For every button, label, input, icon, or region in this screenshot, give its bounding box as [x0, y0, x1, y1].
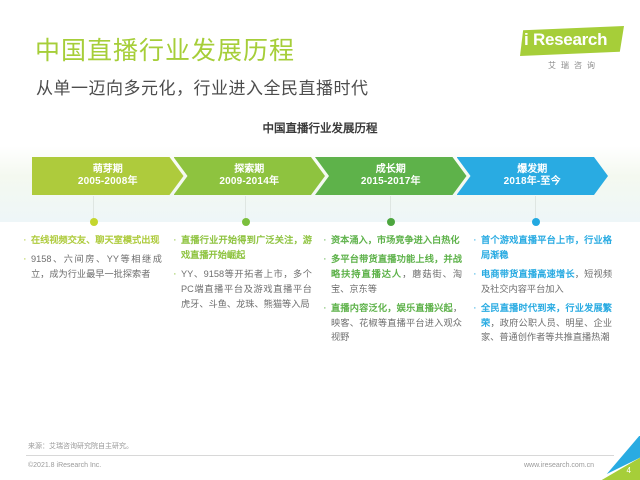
timeline-arrows: 萌芽期2005-2008年探索期2009-2014年成长期2015-2017年爆… [32, 157, 608, 195]
phase-name: 探索期 [234, 164, 264, 177]
timeline-arrow-3[interactable]: 成长期2015-2017年 [315, 157, 467, 195]
phase-years: 2015-2017年 [361, 176, 421, 189]
list-item: YY、9158等开拓者上市，多个PC端直播平台及游戏直播平台虎牙、斗鱼、龙珠、熊… [172, 267, 312, 312]
phase-years: 2018年-至今 [504, 176, 561, 189]
page-title: 中国直播行业发展历程 [35, 31, 295, 67]
logo-chinese-name: 艾瑞咨询 [524, 60, 624, 71]
bullet-highlight: 在线视频交友、聊天室模式出现 [31, 235, 160, 245]
footer-divider [26, 455, 614, 456]
phase-column-1: 在线视频交友、聊天室模式出现9158、六间房、YY等相继成立，成为行业最早一批探… [22, 233, 162, 433]
phase-columns: 在线视频交友、聊天室模式出现9158、六间房、YY等相继成立，成为行业最早一批探… [22, 233, 622, 433]
phase-name: 萌芽期 [93, 164, 123, 177]
list-item: 首个游戏直播平台上市，行业格局渐稳 [472, 233, 612, 263]
bullet-highlight: 资本涌入，市场竞争进入白热化 [331, 235, 460, 245]
copyright-text: ©2021.8 iResearch Inc. [28, 462, 101, 469]
slide: 中国直播行业发展历程 从单一迈向多元化，行业进入全民直播时代 i Researc… [0, 0, 640, 480]
phase-column-4: 首个游戏直播平台上市，行业格局渐稳电商带货直播高速增长，短视频及社交内容平台加入… [472, 233, 612, 433]
list-item: 在线视频交友、聊天室模式出现 [22, 233, 162, 248]
list-item: 直播内容泛化，娱乐直播兴起，映客、花椒等直播平台进入观众视野 [322, 301, 462, 346]
bullet-highlight: 首个游戏直播平台上市，行业格局渐稳 [481, 235, 612, 260]
bullet-list: 首个游戏直播平台上市，行业格局渐稳电商带货直播高速增长，短视频及社交内容平台加入… [472, 233, 612, 345]
page-subtitle: 从单一迈向多元化，行业进入全民直播时代 [36, 74, 369, 99]
list-item: 电商带货直播高速增长，短视频及社交内容平台加入 [472, 267, 612, 297]
source-note: 来源：艾瑞咨询研究院自主研究。 [28, 441, 133, 451]
phase-column-3: 资本涌入，市场竞争进入白热化多平台带货直播功能上线，并战略扶持直播达人，蘑菇街、… [322, 233, 462, 433]
bullet-text: ，政府公职人员、明星、企业家、普通创作者等共推直播热潮 [481, 318, 612, 343]
bullet-text: YY、9158等开拓者上市，多个PC端直播平台及游戏直播平台虎牙、斗鱼、龙珠、熊… [181, 269, 312, 309]
phase-column-2: 直播行业开始得到广泛关注，游戏直播开始崛起YY、9158等开拓者上市，多个PC端… [172, 233, 312, 433]
page-number: 4 [627, 466, 631, 475]
bullet-list: 直播行业开始得到广泛关注，游戏直播开始崛起YY、9158等开拓者上市，多个PC端… [172, 233, 312, 312]
bullet-list: 资本涌入，市场竞争进入白热化多平台带货直播功能上线，并战略扶持直播达人，蘑菇街、… [322, 233, 462, 345]
timeline-dot-4 [532, 218, 540, 226]
list-item: 多平台带货直播功能上线，并战略扶持直播达人，蘑菇街、淘宝、京东等 [322, 252, 462, 297]
phase-years: 2005-2008年 [78, 176, 138, 189]
iresearch-logo: i Research 艾瑞咨询 [512, 26, 624, 76]
logo-letter: i [524, 31, 529, 48]
phase-name: 爆发期 [517, 164, 547, 177]
timeline-arrow-4[interactable]: 爆发期2018年-至今 [457, 157, 609, 195]
timeline-arrow-2[interactable]: 探索期2009-2014年 [174, 157, 326, 195]
bullet-text: 9158、六间房、YY等相继成立，成为行业最早一批探索者 [31, 254, 162, 279]
bullet-highlight: 电商带货直播高速增长 [481, 269, 575, 279]
website-url: www.iresearch.com.cn [524, 462, 594, 469]
timeline-dot-1 [90, 218, 98, 226]
timeline-dot-2 [242, 218, 250, 226]
timeline-arrow-1[interactable]: 萌芽期2005-2008年 [32, 157, 184, 195]
list-item: 全民直播时代到来，行业发展繁荣，政府公职人员、明星、企业家、普通创作者等共推直播… [472, 301, 612, 346]
phase-name: 成长期 [376, 164, 406, 177]
list-item: 资本涌入，市场竞争进入白热化 [322, 233, 462, 248]
chart-title: 中国直播行业发展历程 [0, 120, 640, 136]
list-item: 直播行业开始得到广泛关注，游戏直播开始崛起 [172, 233, 312, 263]
logo-wordmark: Research [533, 30, 607, 50]
timeline-dot-3 [387, 218, 395, 226]
phase-years: 2009-2014年 [219, 176, 279, 189]
bullet-highlight: 直播内容泛化，娱乐直播兴起 [331, 303, 453, 313]
corner-decoration-icon [586, 436, 640, 480]
bullet-list: 在线视频交友、聊天室模式出现9158、六间房、YY等相继成立，成为行业最早一批探… [22, 233, 162, 282]
list-item: 9158、六间房、YY等相继成立，成为行业最早一批探索者 [22, 252, 162, 282]
bullet-highlight: 直播行业开始得到广泛关注，游戏直播开始崛起 [181, 235, 312, 260]
